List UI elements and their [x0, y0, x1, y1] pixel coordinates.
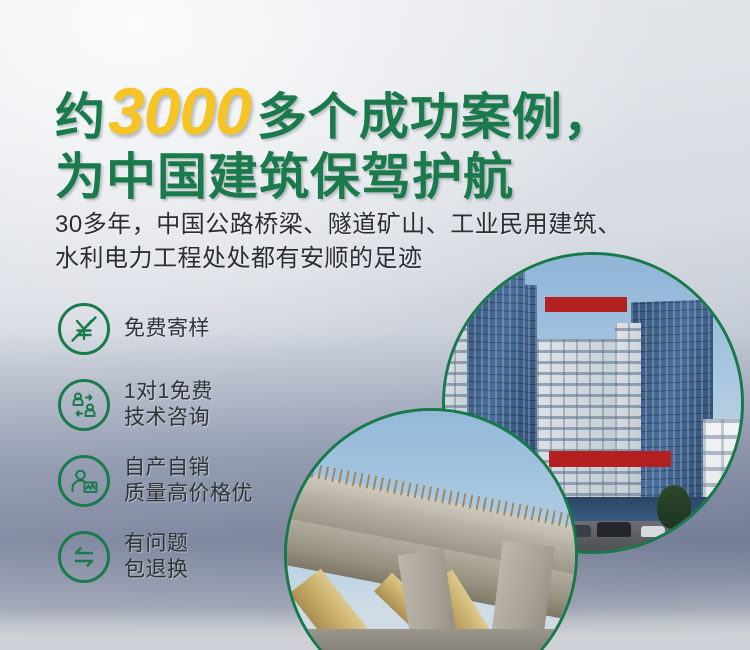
one-on-one-consult-icon: [58, 379, 110, 431]
feature-item-return-exchange[interactable]: 有问题 包退换: [58, 526, 253, 588]
feature-item-free-sample[interactable]: 免费寄样: [58, 298, 253, 360]
self-production-icon: [58, 455, 110, 507]
feature-list: 免费寄样 1对1免费 技术咨询: [58, 298, 253, 588]
feature-label: 免费寄样: [124, 316, 210, 342]
bridge-photo-scene: [287, 411, 575, 650]
feature-label-line-1: 自产自销: [124, 455, 253, 481]
return-exchange-icon: [58, 531, 110, 583]
feature-item-self-production[interactable]: 自产自销 质量高价格优: [58, 450, 253, 512]
rooftop-sign-top: [545, 297, 627, 312]
ground-rubble: [287, 629, 575, 650]
subtitle-line-1: 30多年，中国公路桥梁、隧道矿山、工业民用建筑、: [55, 208, 622, 242]
headline-line-2: 为中国建筑保驾护航: [55, 152, 614, 202]
tree: [657, 485, 691, 529]
headline-line-1: 约 3000 多个成功案例，: [55, 78, 614, 144]
headline-suffix: 多个成功案例，: [257, 92, 614, 142]
headline-prefix: 约: [55, 92, 106, 142]
headline: 约 3000 多个成功案例， 为中国建筑保驾护航: [55, 78, 614, 202]
feature-label-line-1: 有问题: [124, 531, 189, 557]
subtitle: 30多年，中国公路桥梁、隧道矿山、工业民用建筑、 水利电力工程处处都有安顺的足迹: [55, 208, 622, 276]
feature-label-line-2: 包退换: [124, 557, 189, 583]
bridge-photo: [284, 408, 578, 650]
car: [641, 526, 665, 537]
feature-label: 有问题 包退换: [124, 531, 189, 583]
headline-number: 3000: [106, 78, 257, 144]
feature-label: 自产自销 质量高价格优: [124, 455, 253, 507]
feature-label-line-2: 质量高价格优: [124, 481, 253, 507]
subtitle-line-2: 水利电力工程处处都有安顺的足迹: [55, 242, 622, 276]
free-sample-icon: [58, 303, 110, 355]
feature-label: 1对1免费 技术咨询: [124, 379, 213, 431]
car: [597, 522, 631, 537]
feature-label-line-1: 免费寄样: [124, 317, 210, 340]
feature-label-line-2: 技术咨询: [124, 405, 213, 431]
feature-item-consult[interactable]: 1对1免费 技术咨询: [58, 374, 253, 436]
promo-banner: 约 3000 多个成功案例， 为中国建筑保驾护航 30多年，中国公路桥梁、隧道矿…: [0, 0, 750, 650]
feature-label-line-1: 1对1免费: [124, 379, 213, 405]
